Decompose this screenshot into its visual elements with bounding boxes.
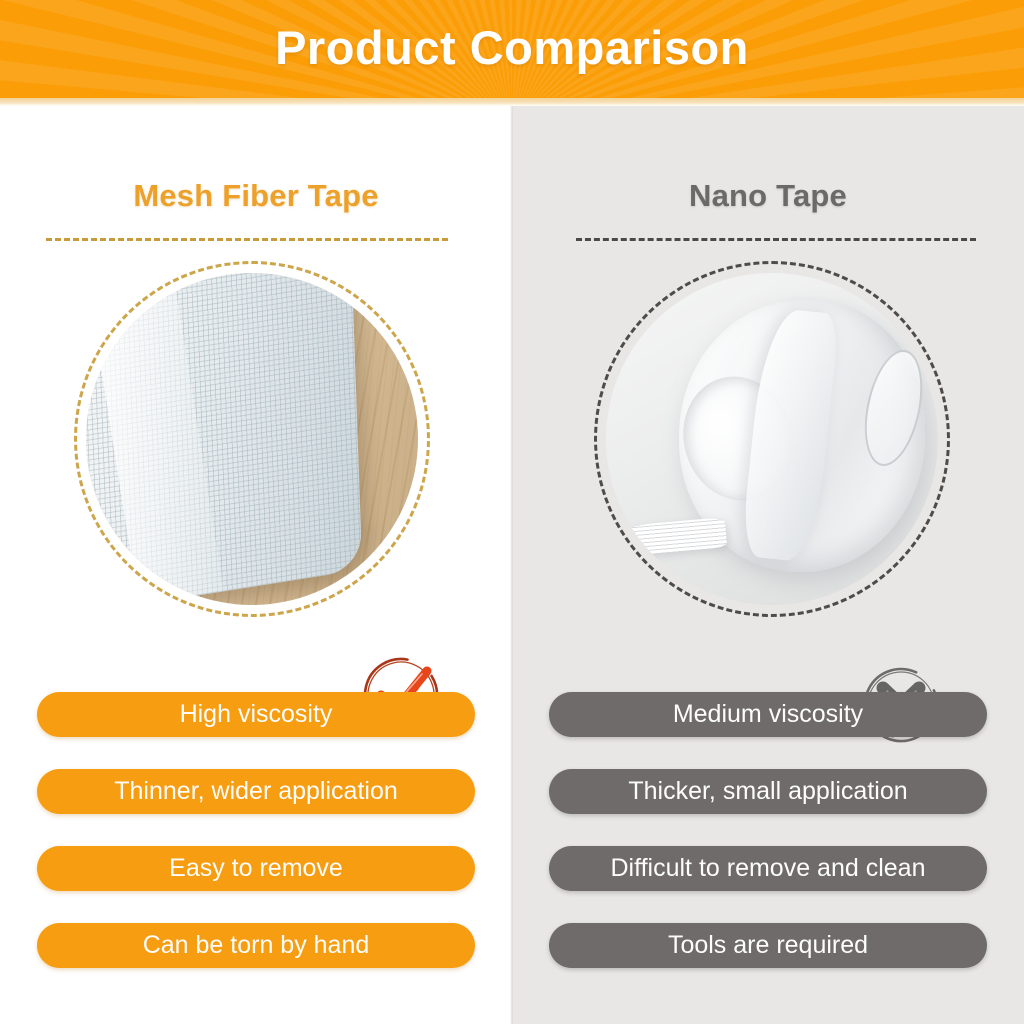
feature-pill: High viscosity (37, 692, 475, 737)
page-title: Product Comparison (0, 0, 1024, 98)
feature-pill: Thinner, wider application (37, 769, 475, 814)
feature-pill: Medium viscosity (549, 692, 987, 737)
product-photo-mesh-fiber-tape (74, 261, 430, 617)
header-underline-divider (0, 98, 1024, 106)
column-heading-nano-tape: Nano Tape (512, 178, 1024, 214)
product-photo-nano-tape (594, 261, 950, 617)
column-heading-mesh-fiber-tape: Mesh Fiber Tape (0, 178, 512, 214)
column-dashed-divider-left (46, 238, 448, 241)
product-comparison-page: Product Comparison Mesh Fiber Tape (0, 0, 1024, 1024)
photo-dashed-ring-right (594, 261, 950, 617)
feature-pill-list-mesh-fiber-tape: High viscosity Thinner, wider applicatio… (0, 692, 512, 1000)
comparison-column-mesh-fiber-tape: Mesh Fiber Tape (0, 106, 512, 1024)
feature-pill: Difficult to remove and clean (549, 846, 987, 891)
photo-dashed-ring-left (74, 261, 430, 617)
feature-pill: Easy to remove (37, 846, 475, 891)
feature-pill-list-nano-tape: Medium viscosity Thicker, small applicat… (512, 692, 1024, 1000)
feature-pill: Thicker, small application (549, 769, 987, 814)
feature-pill: Tools are required (549, 923, 987, 968)
column-dashed-divider-right (576, 238, 976, 241)
feature-pill: Can be torn by hand (37, 923, 475, 968)
column-separator (510, 106, 513, 1024)
comparison-column-nano-tape: Nano Tape (512, 106, 1024, 1024)
header-banner: Product Comparison (0, 0, 1024, 98)
